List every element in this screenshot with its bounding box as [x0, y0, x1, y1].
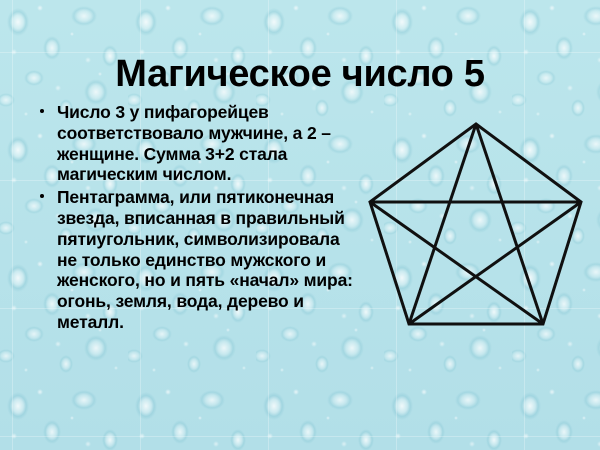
diagonal-left-to-bottom-right — [370, 202, 543, 324]
slide: Магическое число 5 Число 3 у пифагорейце… — [0, 0, 600, 450]
bullet-list: Число 3 у пифагорейцев соответствовало м… — [36, 102, 354, 335]
list-item: Пентаграмма, или пятиконечная звезда, вп… — [36, 187, 354, 333]
pentagram-figure — [352, 108, 596, 340]
pentagram-star-diagonals — [370, 124, 581, 324]
list-item-text: Пентаграмма, или пятиконечная звезда, вп… — [57, 187, 353, 332]
pentagram-diagram — [352, 108, 596, 340]
list-item-text: Число 3 у пифагорейцев соответствовало м… — [57, 102, 331, 184]
diagonal-right-to-bottom-left — [409, 202, 581, 324]
bullet-dot-icon — [40, 194, 44, 198]
diagonal-top-to-bottom-right — [476, 124, 543, 324]
diagonal-top-to-bottom-left — [409, 124, 476, 324]
bullet-dot-icon — [40, 109, 44, 113]
page-title: Магическое число 5 — [0, 53, 600, 96]
list-item: Число 3 у пифагорейцев соответствовало м… — [36, 102, 354, 185]
